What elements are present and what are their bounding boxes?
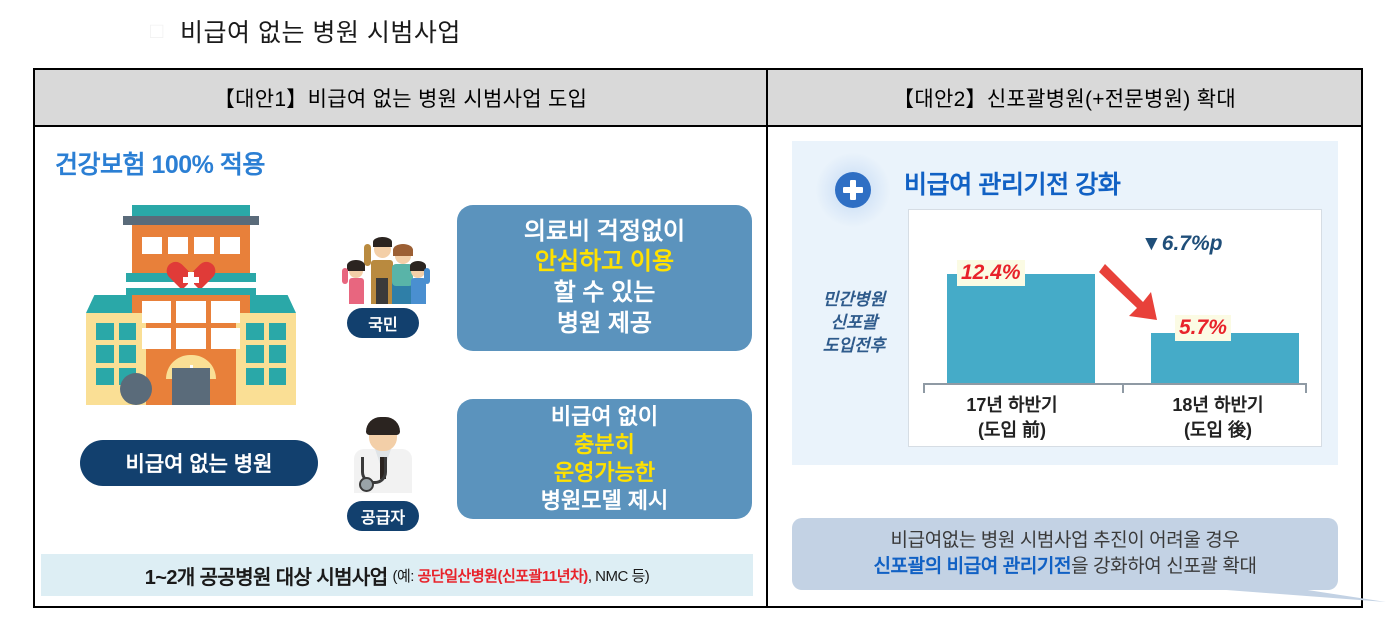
citizen-message-line-3: 병원 제공 [557, 309, 652, 340]
pilot-scope-note: (예: 공단일산병원(신포괄11년차), NMC 등) [393, 565, 650, 586]
pilot-scope-main: 1~2개 공공병원 대상 시범사업 [145, 561, 388, 590]
chart-x-label-2017h2: 17년 하반기 (도입 前) [909, 393, 1115, 442]
summary-line-1: 비급여없는 병원 시범사업 추진이 어려울 경우 [891, 528, 1240, 554]
doctor-illustration-icon [337, 405, 429, 497]
chart-tick-left [923, 383, 925, 393]
chart-delta-annotation: ▼6.7%p [1141, 232, 1222, 256]
alternative-2-cell: 비급여 관리기전 강화 민간병원 신포괄 도입전후 12.4% 5.7% ▼6.… [768, 127, 1361, 606]
chart-x-label-2018h2: 18년 하반기 (도입 後) [1115, 393, 1321, 442]
chart-tick-mid [1122, 383, 1124, 393]
decline-arrow-icon [1099, 258, 1171, 330]
role-badge-provider: 공급자 [347, 501, 419, 531]
role-badge-citizen: 국민 [347, 308, 419, 338]
comparison-table: 【대안1】비급여 없는 병원 시범사업 도입 【대안2】신포괄병원(+전문병원)… [33, 68, 1363, 608]
alternative-1-cell: 건강보험 100% 적용 [35, 127, 768, 606]
management-card: 비급여 관리기전 강화 민간병원 신포괄 도입전후 12.4% 5.7% ▼6.… [792, 141, 1338, 465]
nonpayment-ratio-bar-chart: 12.4% 5.7% ▼6.7%p [908, 209, 1322, 447]
page-title-row: □ 비급여 없는 병원 시범사업 [0, 8, 1395, 54]
chart-bar-2017h2 [947, 274, 1095, 384]
provider-message-line-1: 비급여 없이 충분히 [551, 403, 658, 459]
chart-value-label-2017h2: 12.4% [957, 260, 1025, 286]
persona-provider: 공급자 [333, 405, 433, 531]
chart-plot-area: 12.4% 5.7% ▼6.7%p [909, 210, 1321, 384]
table-header-row: 【대안1】비급여 없는 병원 시범사업 도입 【대안2】신포괄병원(+전문병원)… [35, 70, 1361, 127]
citizen-message-box: 의료비 걱정없이 안심하고 이용할 수 있는 병원 제공 [457, 205, 752, 351]
chart-tick-right [1305, 383, 1307, 393]
family-illustration-icon [337, 212, 429, 304]
provider-message-line-2: 운영가능한 병원모델 제시 [541, 459, 669, 515]
hospital-label-badge: 비급여 없는 병원 [80, 440, 318, 486]
hospital-illustration [80, 205, 308, 417]
coverage-headline: 건강보험 100% 적용 [55, 145, 265, 181]
pilot-scope-strip: 1~2개 공공병원 대상 시범사업 (예: 공단일산병원(신포괄11년차), N… [41, 554, 753, 596]
provider-message-box: 비급여 없이 충분히 운영가능한 병원모델 제시 [457, 399, 752, 519]
citizen-message-line-2: 안심하고 이용할 수 있는 [535, 247, 674, 308]
page-title: 비급여 없는 병원 시범사업 [180, 13, 461, 49]
plus-circle-icon [835, 172, 871, 208]
alternative-2-summary-box: 비급여없는 병원 시범사업 추진이 어려울 경우 신포괄의 비급여 관리기전을 … [792, 518, 1338, 590]
bullet-marker-icon: □ [150, 20, 166, 42]
citizen-message-line-1: 의료비 걱정없이 [524, 217, 685, 248]
chart-value-label-2018h2: 5.7% [1175, 315, 1231, 341]
chart-y-axis-label: 민간병원 신포괄 도입전후 [806, 289, 902, 358]
table-body-row: 건강보험 100% 적용 [35, 127, 1361, 606]
management-heading: 비급여 관리기전 강화 [904, 165, 1121, 201]
table-header-alternative-2: 【대안2】신포괄병원(+전문병원) 확대 [768, 70, 1361, 125]
table-header-alternative-1: 【대안1】비급여 없는 병원 시범사업 도입 [35, 70, 768, 125]
persona-citizen: 국민 [333, 212, 433, 338]
chart-x-axis-labels: 17년 하반기 (도입 前) 18년 하반기 (도입 後) [909, 393, 1321, 442]
chart-axis-line [923, 383, 1307, 385]
summary-line-2: 신포괄의 비급여 관리기전을 강화하여 신포괄 확대 [873, 554, 1256, 580]
